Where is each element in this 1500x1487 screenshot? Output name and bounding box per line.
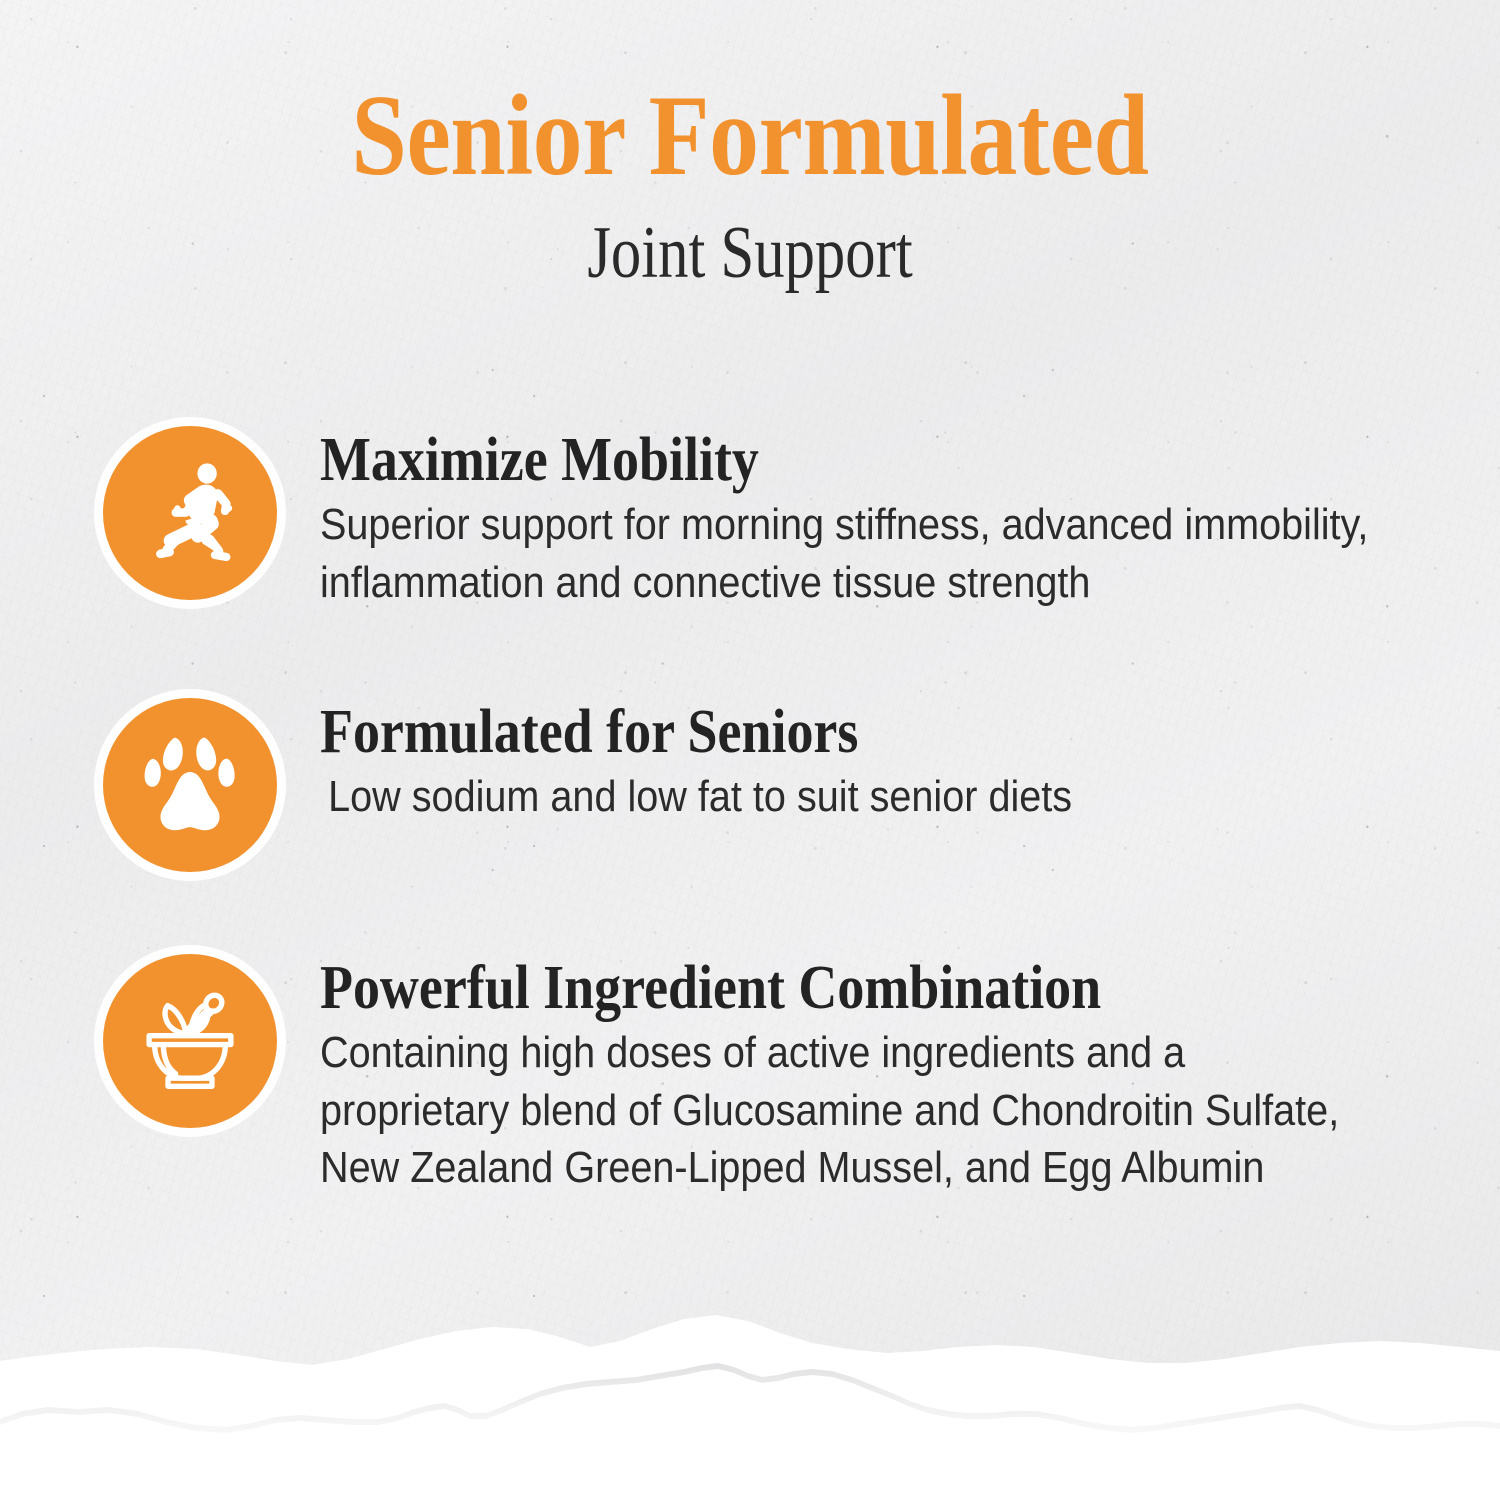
feature-body: Superior support for morning stiffness, …: [320, 496, 1382, 610]
feature-body: Low sodium and low fat to suit senior di…: [320, 768, 1382, 825]
feature-text-block: Maximize Mobility Superior support for m…: [277, 426, 1500, 611]
feature-item-formulated-for-seniors: Formulated for Seniors Low sodium and lo…: [0, 611, 1500, 872]
page-title: Senior Formulated: [105, 78, 1395, 194]
mortar-and-pestle-icon: [103, 954, 277, 1128]
paw-print-icon: [103, 698, 277, 872]
feature-list: Maximize Mobility Superior support for m…: [0, 418, 1500, 1196]
feature-text-block: Powerful Ingredient Combination Containi…: [277, 954, 1500, 1196]
feature-heading: Maximize Mobility: [320, 428, 1347, 492]
headline-block: Senior Formulated Joint Support: [0, 78, 1500, 290]
feature-heading: Powerful Ingredient Combination: [320, 956, 1347, 1020]
product-feature-graphic: Senior Formulated Joint Support: [0, 0, 1500, 1487]
feature-body: Containing high doses of active ingredie…: [320, 1024, 1382, 1196]
feature-item-powerful-ingredient-combination: Powerful Ingredient Combination Containi…: [0, 872, 1500, 1196]
feature-text-block: Formulated for Seniors Low sodium and lo…: [277, 698, 1500, 826]
running-person-icon: [103, 426, 277, 600]
feature-item-maximize-mobility: Maximize Mobility Superior support for m…: [0, 418, 1500, 611]
page-subtitle: Joint Support: [135, 216, 1365, 290]
feature-heading: Formulated for Seniors: [320, 700, 1347, 764]
